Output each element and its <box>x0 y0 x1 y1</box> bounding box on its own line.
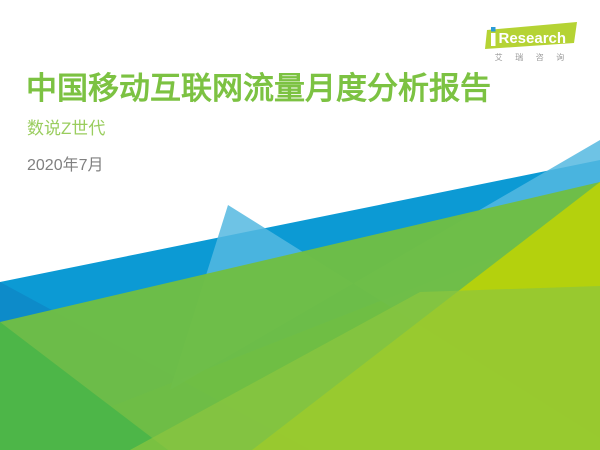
layered-mountain-graphic <box>0 0 600 450</box>
logo-subtitle: 艾 瑞 咨 询 <box>486 52 578 64</box>
page-title: 中国移动互联网流量月度分析报告 <box>26 70 491 108</box>
page-subtitle: 数说Z世代 <box>27 117 105 141</box>
iresearch-logo-mark: Research <box>484 22 580 52</box>
logo-i-stem <box>491 33 496 46</box>
iresearch-logo: Research 艾 瑞 咨 询 <box>484 22 580 66</box>
report-cover-slide: Research 艾 瑞 咨 询 中国移动互联网流量月度分析报告 数说Z世代 2… <box>0 0 600 450</box>
logo-wordmark: Research <box>499 30 567 47</box>
logo-i-dot <box>491 27 496 32</box>
publication-date: 2020年7月 <box>27 154 104 178</box>
